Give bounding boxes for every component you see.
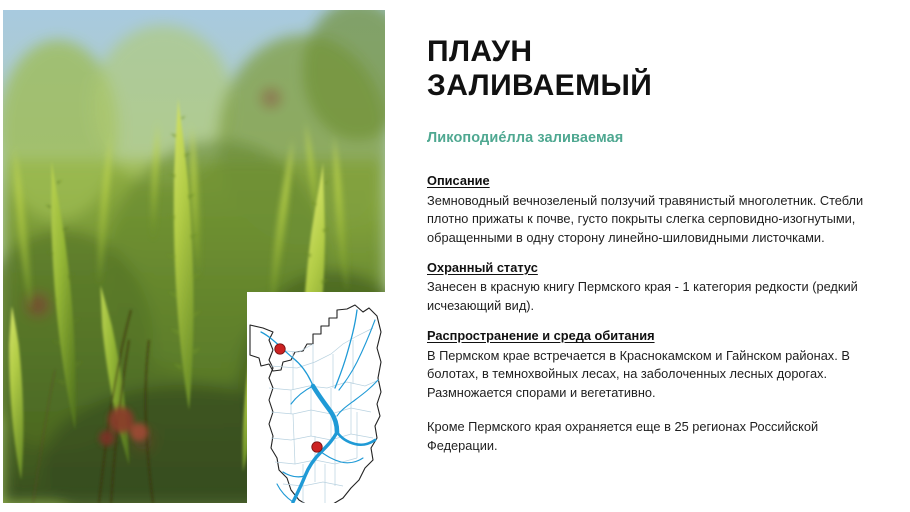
section-protection-status-body: Занесен в красную книгу Пермского края -…	[427, 278, 887, 316]
closing-note-body: Кроме Пермского края охраняется еще в 25…	[427, 418, 887, 456]
occurrence-marker-krasnokamsky	[312, 442, 322, 452]
page-title: ПЛАУН ЗАЛИВАЕМЫЙ	[427, 35, 887, 103]
occurrence-marker-gainsky	[275, 344, 285, 354]
section-protection-status: Охранный статус Занесен в красную книгу …	[427, 259, 887, 316]
info-sections: Описание Земноводный вечнозеленый ползуч…	[427, 172, 887, 456]
page-title-line-1: ПЛАУН	[427, 35, 887, 69]
section-distribution-habitat-body: В Пермском крае встречается в Краснокамс…	[427, 347, 887, 403]
section-description: Описание Земноводный вечнозеленый ползуч…	[427, 172, 887, 248]
section-distribution-habitat-heading: Распространение и среда обитания	[427, 327, 887, 346]
page-title-line-2: ЗАЛИВАЕМЫЙ	[427, 69, 887, 103]
perm-krai-map-svg	[247, 292, 385, 503]
species-photo	[3, 10, 385, 503]
section-protection-status-heading: Охранный статус	[427, 259, 887, 278]
species-latin-name: Ликоподиéлла заливаемая	[427, 130, 887, 146]
section-description-body: Земноводный вечнозеленый ползучий травян…	[427, 192, 887, 248]
section-description-heading: Описание	[427, 172, 887, 191]
species-info-slide: ПЛАУН ЗАЛИВАЕМЫЙ Ликоподиéлла заливаемая…	[0, 0, 910, 512]
distribution-map	[247, 292, 385, 503]
species-text-column: ПЛАУН ЗАЛИВАЕМЫЙ Ликоподиéлла заливаемая…	[427, 0, 893, 512]
section-closing-note: Кроме Пермского края охраняется еще в 25…	[427, 418, 887, 456]
section-distribution-habitat: Распространение и среда обитания В Пермс…	[427, 327, 887, 403]
